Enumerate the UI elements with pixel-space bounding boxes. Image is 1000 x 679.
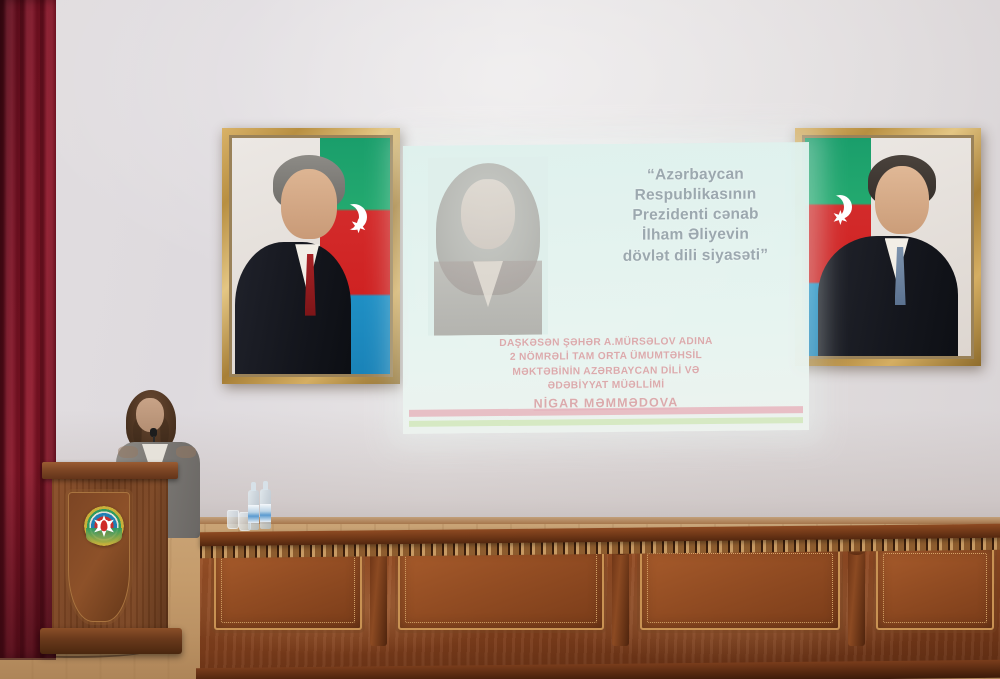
speaker-head <box>136 398 164 432</box>
presidium-table <box>200 528 1000 679</box>
conference-hall-photo: “Azərbaycan Respublikasının Prezidenti c… <box>0 0 1000 679</box>
slide-heading-line-1: “Azərbaycan <box>593 164 798 186</box>
water-bottle <box>248 490 259 530</box>
speaker-shoulder-left <box>118 446 138 458</box>
podium-body <box>52 478 168 630</box>
slide-stripe-green <box>409 417 803 427</box>
portrait-canvas-left <box>229 135 393 377</box>
table-carved-panel <box>398 546 604 630</box>
water-bottle <box>260 489 271 529</box>
portrait-frame-ilham-aliyev <box>795 128 981 366</box>
speaking-podium <box>46 462 174 652</box>
portrait-ilham-aliyev <box>805 138 971 356</box>
table-carved-column <box>848 538 865 646</box>
slide-heading: “Azərbaycan Respublikasının Prezidenti c… <box>593 164 798 267</box>
table-carved-column <box>612 538 629 646</box>
slide-presenter-photo <box>428 157 548 336</box>
table-carved-panel <box>876 546 994 630</box>
podium-base <box>40 628 182 654</box>
portrait-heydar-aliyev <box>232 138 390 374</box>
azerbaijan-coat-of-arms-icon <box>84 506 124 546</box>
table-carved-panel <box>640 546 840 630</box>
slide-heading-line-5: dövlət dili siyasəti” <box>593 245 798 267</box>
slide-heading-line-4: İlham Əliyevin <box>593 225 798 247</box>
speaker-shoulder-right <box>176 446 196 458</box>
drinking-glass <box>227 510 239 529</box>
projected-slide: “Azərbaycan Respublikasının Prezidenti c… <box>403 142 809 434</box>
portrait-canvas-right <box>802 135 974 359</box>
slide-heading-line-3: Prezidenti cənab <box>593 204 798 226</box>
slide-subtitle: DAŞKƏSƏN ŞƏHƏR A.MÜRSƏLOV ADINA 2 NÖMRƏL… <box>409 334 803 414</box>
slide-heading-line-2: Respublikasının <box>593 184 798 206</box>
table-carved-panel <box>214 546 362 630</box>
podium-desktop <box>42 462 178 479</box>
portrait-frame-heydar-aliyev <box>222 128 400 384</box>
